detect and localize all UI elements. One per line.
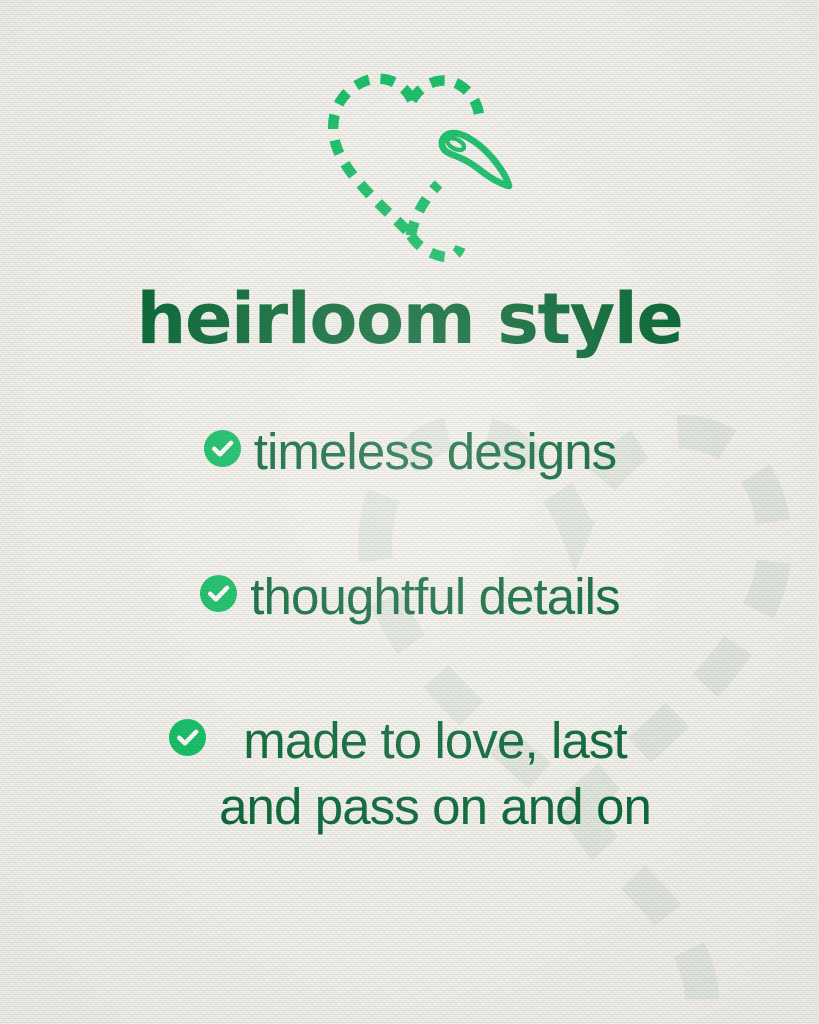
list-item-label: made to love, last and pass on and on (219, 708, 651, 841)
poster-canvas: heirloom style timeless designs (0, 0, 819, 1024)
list-item: timeless designs (203, 419, 617, 485)
list-item-label: timeless designs (254, 419, 617, 485)
list-item-label: thoughtful details (250, 564, 619, 630)
list-item: made to love, last and pass on and on (168, 708, 651, 841)
check-circle-icon (203, 429, 242, 468)
check-circle-icon (199, 574, 238, 613)
page-title: heirloom style (137, 284, 683, 355)
stitched-heart-needle-icon (305, 66, 515, 266)
feature-list: timeless designs thoughtful details (0, 419, 819, 840)
list-item: thoughtful details (199, 564, 619, 630)
check-circle-icon (168, 718, 207, 757)
poster-content: heirloom style timeless designs (0, 0, 819, 1024)
